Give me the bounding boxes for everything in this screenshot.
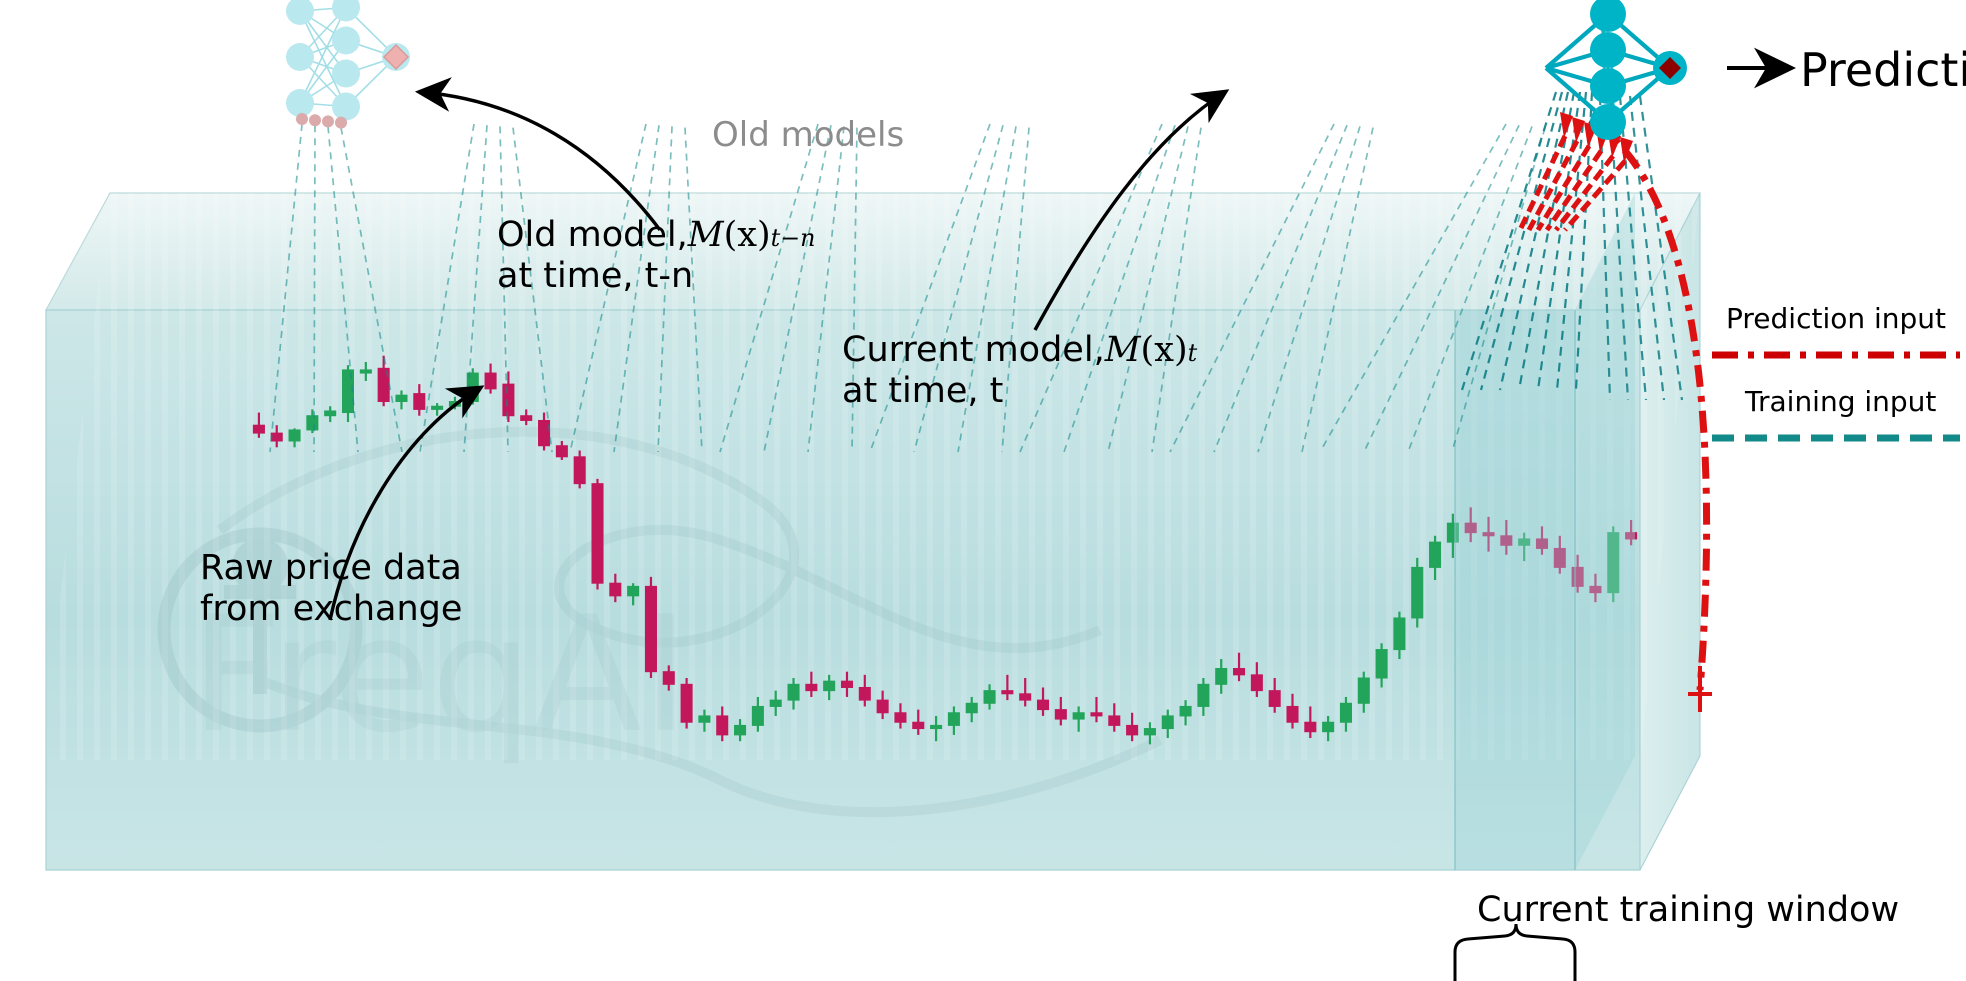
current-model-math-m: M: [1105, 330, 1141, 371]
current-model-annotation-line2: at time, t: [842, 371, 1197, 412]
old-models-label: Old models: [712, 115, 904, 155]
old-model-annotation-line1: Old model,: [497, 215, 688, 256]
old-model-math-sub: t−n: [771, 224, 816, 252]
legend-item-training-input-label: Training input: [1745, 385, 1936, 418]
old-model-math-m: M: [688, 215, 724, 256]
training-window-brace: [1455, 924, 1575, 981]
old-models-group: [286, 0, 410, 129]
old-model-annotation: Old model, M (x) t−n at time, t-n: [497, 215, 815, 298]
current-model-annotation-line1: Current model,: [842, 330, 1105, 371]
diagram-svg: FreqAI: [0, 0, 1966, 981]
current-model-math-x: (x): [1141, 330, 1188, 371]
old-model-annotation-line2: at time, t-n: [497, 256, 815, 297]
current-model-annotation: Current model, M (x) t at time, t: [842, 330, 1197, 413]
current-model-math-sub: t: [1188, 339, 1198, 367]
current-training-window-label: Current training window: [1477, 890, 1899, 930]
raw-price-annotation: Raw price data from exchange: [200, 548, 462, 631]
raw-price-annotation-line1: Raw price data: [200, 548, 462, 589]
prediction-label: Prediction: [1800, 43, 1966, 97]
legend-item-prediction-input-label: Prediction input: [1726, 302, 1946, 335]
old-model-math-x: (x): [724, 215, 771, 256]
diagram-canvas: FreqAI: [0, 0, 1966, 981]
box-right-face: [1640, 193, 1700, 870]
raw-price-annotation-line2: from exchange: [200, 589, 462, 630]
box-top-face: [46, 193, 1700, 310]
